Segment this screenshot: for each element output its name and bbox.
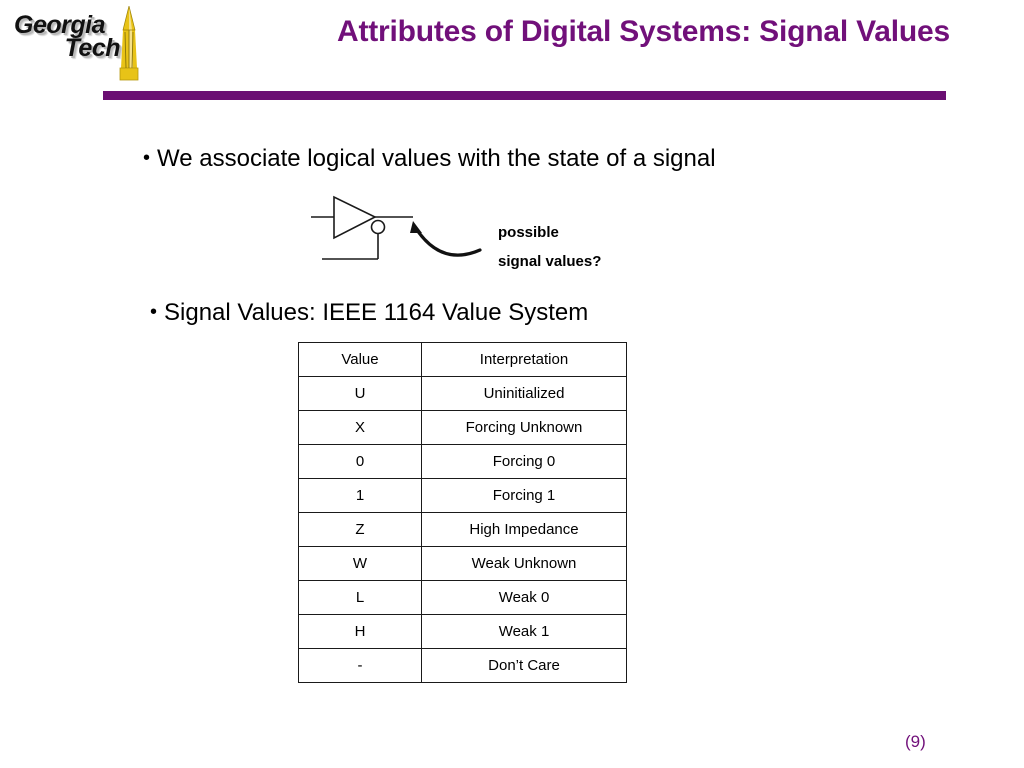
column-header-value: Value: [299, 343, 422, 377]
table-row: X Forcing Unknown: [299, 411, 627, 445]
bullet-text-1: We associate logical values with the sta…: [157, 145, 716, 172]
table-row: 1 Forcing 1: [299, 479, 627, 513]
table-row: - Don’t Care: [299, 649, 627, 683]
logo-wordmark: Georgia Tech: [14, 14, 122, 76]
cell-interpretation: Uninitialized: [422, 377, 627, 411]
cell-interpretation: Don’t Care: [422, 649, 627, 683]
cell-interpretation: Weak 1: [422, 615, 627, 649]
table-row: L Weak 0: [299, 581, 627, 615]
ieee-1164-value-table: Value Interpretation U Uninitialized X F…: [298, 342, 627, 683]
bullet-item-1: •We associate logical values with the st…: [143, 145, 716, 173]
figure-annotation: possible signal values?: [498, 218, 601, 276]
cell-value: U: [299, 377, 422, 411]
cell-interpretation: Forcing Unknown: [422, 411, 627, 445]
annotation-line-2: signal values?: [498, 247, 601, 276]
cell-interpretation: Forcing 0: [422, 445, 627, 479]
inverter-gate-diagram: [305, 195, 505, 275]
table-row: U Uninitialized: [299, 377, 627, 411]
cell-value: 0: [299, 445, 422, 479]
bullet-marker: •: [150, 301, 164, 323]
cell-interpretation: Weak Unknown: [422, 547, 627, 581]
cell-interpretation: High Impedance: [422, 513, 627, 547]
logo-line-tech: Tech: [14, 37, 122, 60]
gate-inversion-bubble: [372, 221, 385, 234]
table-row: 0 Forcing 0: [299, 445, 627, 479]
page-title: Attributes of Digital Systems: Signal Va…: [160, 12, 950, 51]
cell-value: X: [299, 411, 422, 445]
cell-value: W: [299, 547, 422, 581]
curved-arrow-shaft: [415, 227, 480, 255]
bullet-text-2: Signal Values: IEEE 1164 Value System: [164, 299, 588, 326]
georgia-tech-logo: Georgia Tech: [14, 6, 154, 84]
gt-tower-icon: [114, 6, 144, 82]
curved-arrow-head: [410, 221, 422, 233]
cell-interpretation: Weak 0: [422, 581, 627, 615]
gate-triangle-body: [334, 197, 375, 238]
bullet-marker: •: [143, 147, 157, 169]
table-row: Z High Impedance: [299, 513, 627, 547]
bullet-item-2: •Signal Values: IEEE 1164 Value System: [150, 299, 588, 327]
cell-value: H: [299, 615, 422, 649]
cell-value: 1: [299, 479, 422, 513]
annotation-line-1: possible: [498, 218, 601, 247]
table-header-row: Value Interpretation: [299, 343, 627, 377]
cell-interpretation: Forcing 1: [422, 479, 627, 513]
page-number: (9): [905, 732, 926, 752]
cell-value: -: [299, 649, 422, 683]
cell-value: L: [299, 581, 422, 615]
title-underline-rule: [103, 91, 946, 100]
column-header-interpretation: Interpretation: [422, 343, 627, 377]
table-row: H Weak 1: [299, 615, 627, 649]
cell-value: Z: [299, 513, 422, 547]
table-row: W Weak Unknown: [299, 547, 627, 581]
